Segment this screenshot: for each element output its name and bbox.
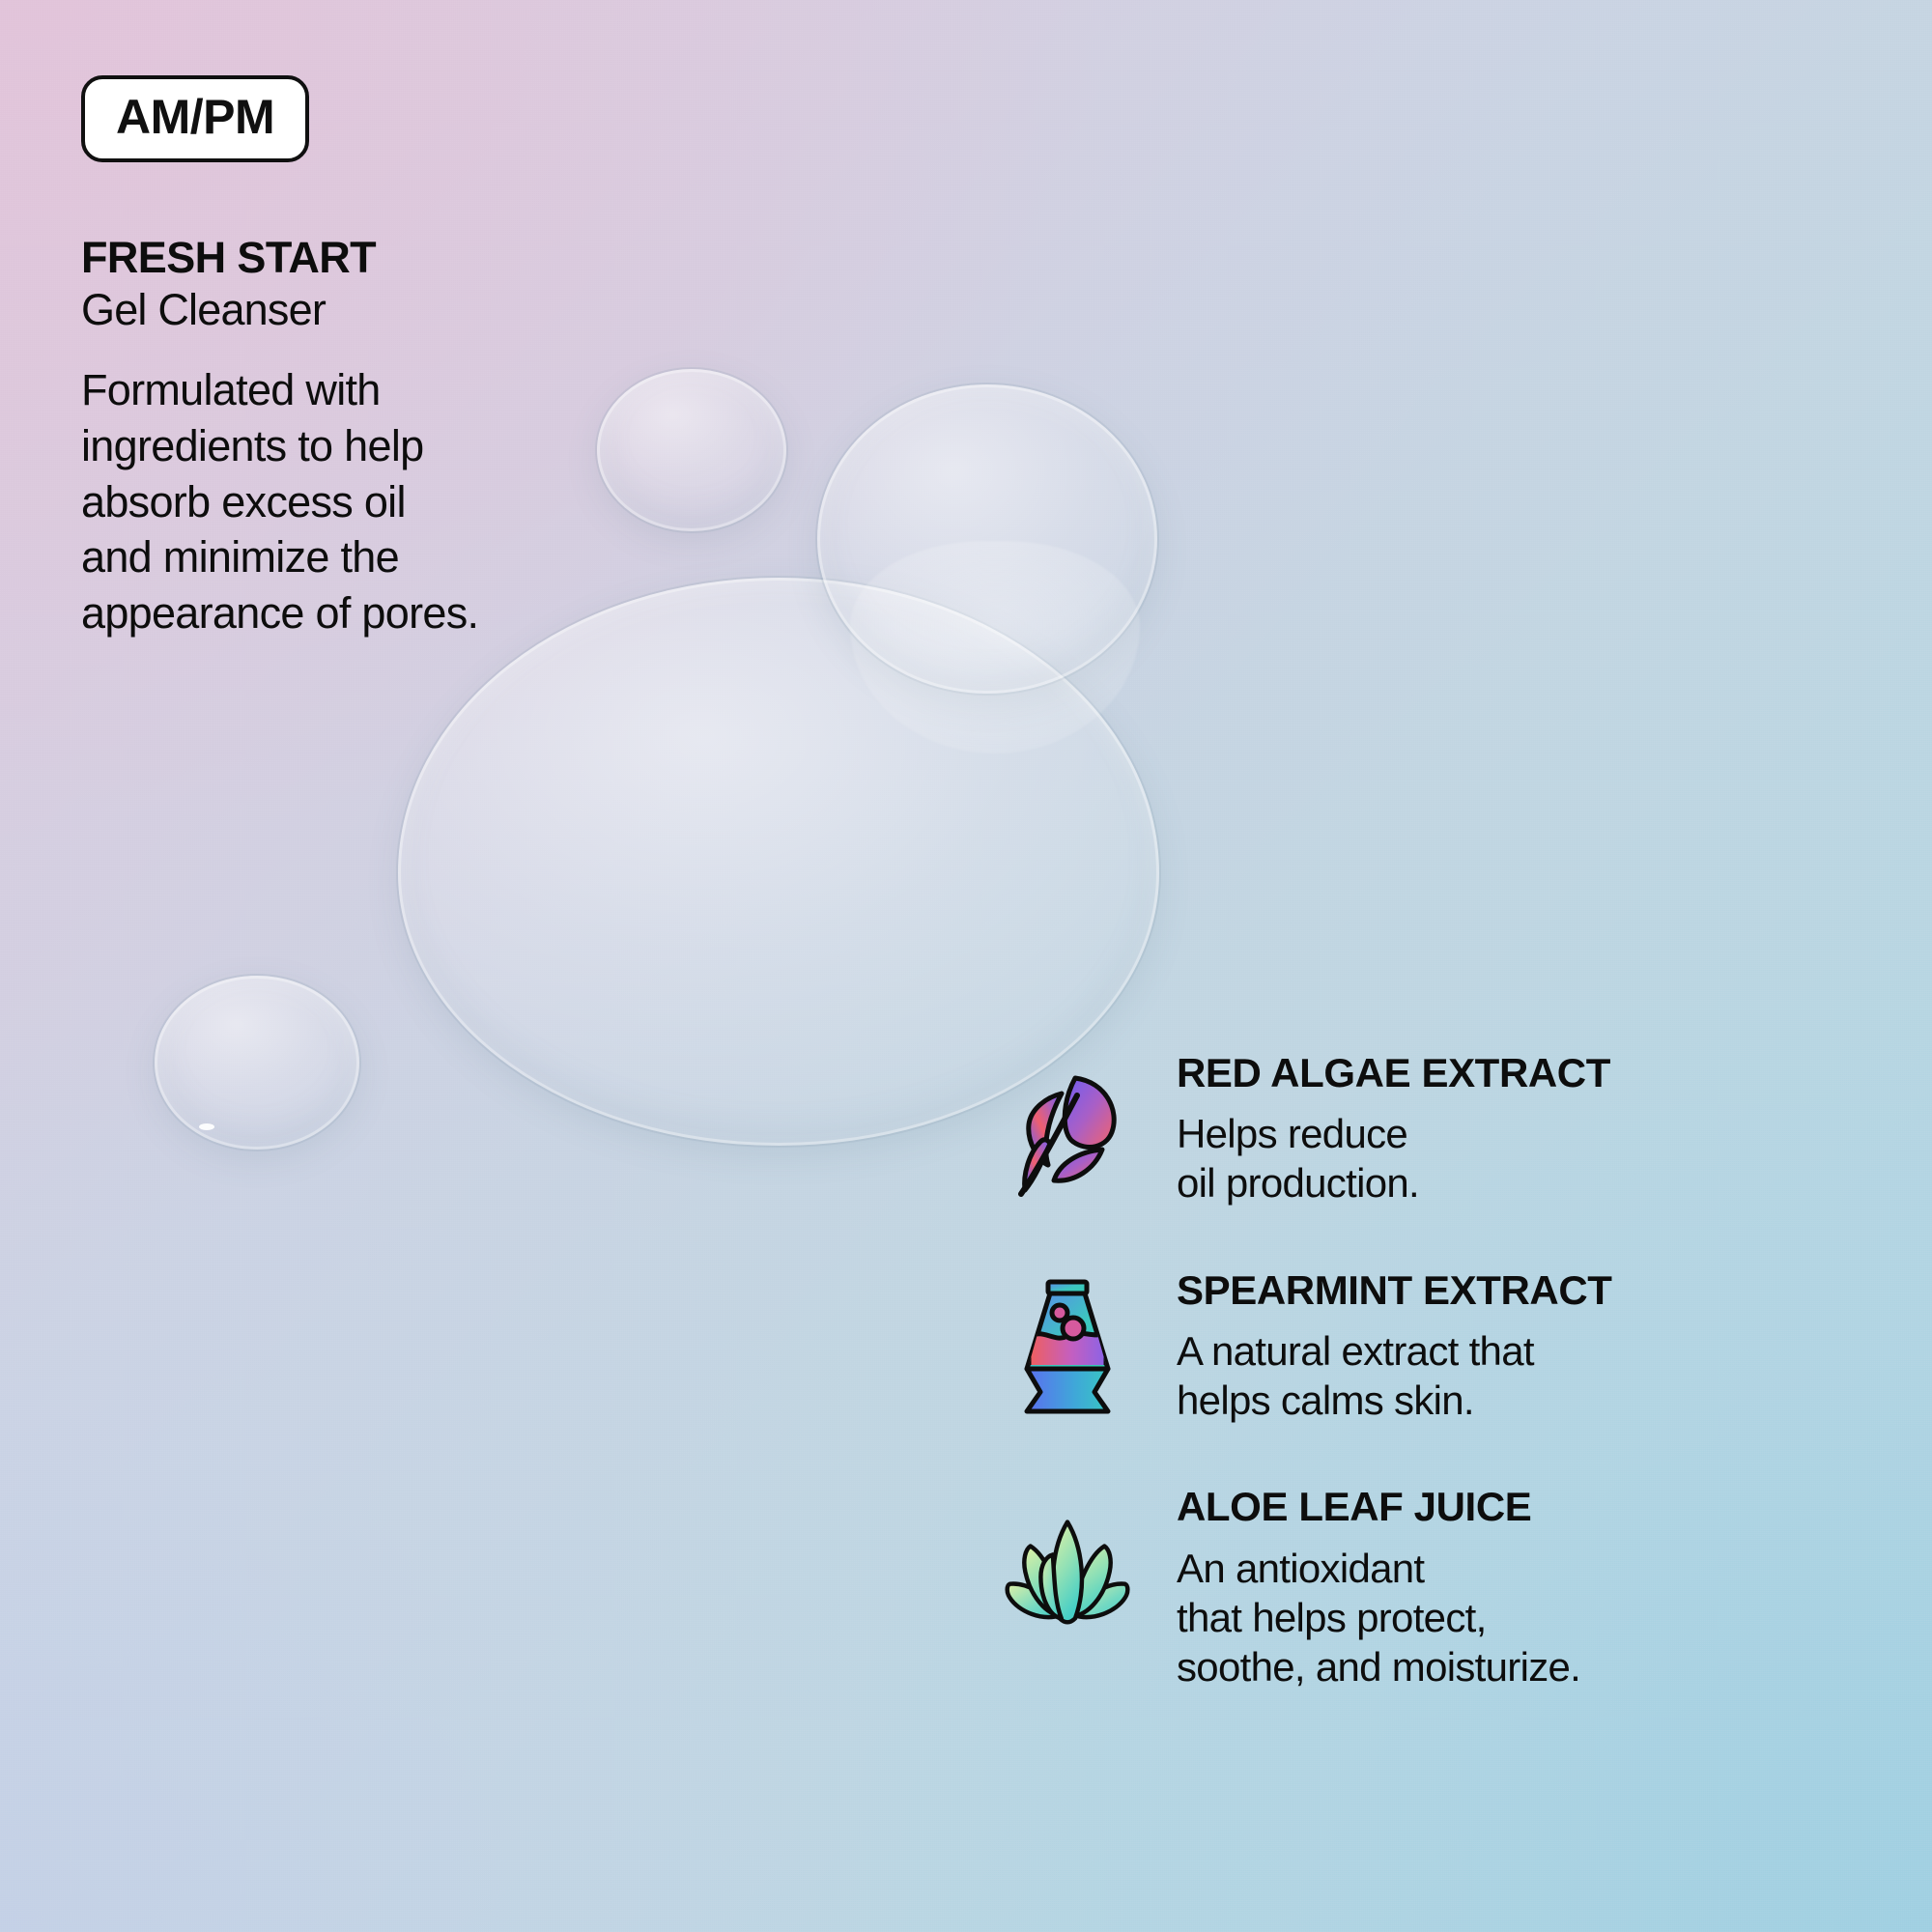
spearmint-lava-lamp-icon — [1005, 1268, 1130, 1419]
ingredient-description: A natural extract that helps calms skin. — [1177, 1326, 1855, 1425]
ingredient-title: RED ALGAE EXTRACT — [1177, 1051, 1855, 1095]
ingredient-list: RED ALGAE EXTRACT Helps reduce oil produ… — [1005, 1051, 1855, 1691]
ingredient-text-red-algae: RED ALGAE EXTRACT Helps reduce oil produ… — [1177, 1051, 1855, 1208]
ingredient-text-aloe: ALOE LEAF JUICE An antioxidant that help… — [1177, 1485, 1855, 1691]
aloe-plant-icon — [1005, 1485, 1130, 1637]
ingredient-title: SPEARMINT EXTRACT — [1177, 1268, 1855, 1313]
ingredient-description: An antioxidant that helps protect, sooth… — [1177, 1544, 1855, 1692]
red-algae-leaf-icon — [1005, 1051, 1130, 1200]
product-subtitle: Gel Cleanser — [81, 287, 583, 334]
product-name: FRESH START — [81, 236, 583, 281]
ingredient-item-spearmint: SPEARMINT EXTRACT A natural extract that… — [1005, 1268, 1855, 1426]
ingredient-title: ALOE LEAF JUICE — [1177, 1485, 1855, 1529]
ingredient-item-red-algae: RED ALGAE EXTRACT Helps reduce oil produ… — [1005, 1051, 1855, 1208]
product-description: Formulated with ingredients to help abso… — [81, 362, 526, 640]
ingredient-description: Helps reduce oil production. — [1177, 1109, 1855, 1207]
product-info-column: AM/PM FRESH START Gel Cleanser Formulate… — [81, 75, 583, 640]
ingredient-item-aloe: ALOE LEAF JUICE An antioxidant that help… — [1005, 1485, 1855, 1691]
ingredient-text-spearmint: SPEARMINT EXTRACT A natural extract that… — [1177, 1268, 1855, 1426]
product-infographic: AM/PM FRESH START Gel Cleanser Formulate… — [0, 0, 1932, 1932]
ampm-badge: AM/PM — [81, 75, 309, 162]
